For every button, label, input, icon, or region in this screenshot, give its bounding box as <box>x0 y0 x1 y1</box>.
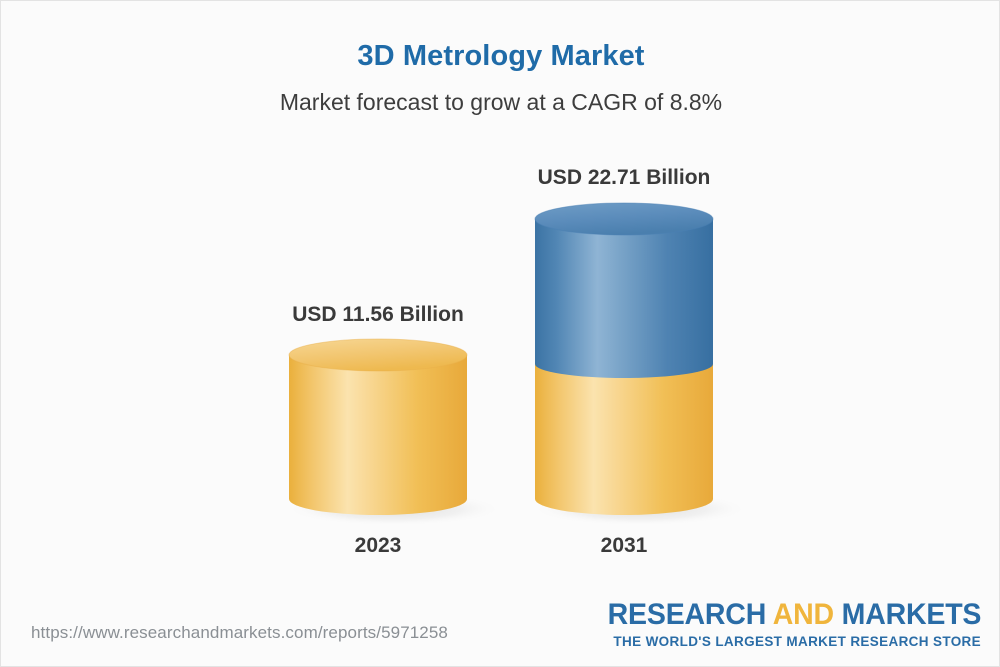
research-and-markets-logo[interactable]: RESEARCH AND MARKETS THE WORLD'S LARGEST… <box>588 599 981 649</box>
cylinder-chart-graphic <box>1 1 1000 667</box>
logo-tagline: THE WORLD'S LARGEST MARKET RESEARCH STOR… <box>588 634 981 649</box>
cylinder-2031 <box>535 203 713 515</box>
value-label-2023: USD 11.56 Billion <box>278 303 478 327</box>
chart-canvas: 3D Metrology Market Market forecast to g… <box>0 0 1000 667</box>
logo-wordmark: RESEARCH AND MARKETS <box>607 599 981 631</box>
category-label-2023: 2023 <box>278 534 478 558</box>
logo-text-and: AND <box>772 598 833 631</box>
logo-text-markets: MARKETS <box>834 598 981 631</box>
category-label-2031: 2031 <box>524 534 724 558</box>
value-label-2031: USD 22.71 Billion <box>524 166 724 190</box>
source-url[interactable]: https://www.researchandmarkets.com/repor… <box>31 623 448 643</box>
cylinder-2023 <box>289 339 467 515</box>
logo-text-research: RESEARCH <box>607 598 772 631</box>
